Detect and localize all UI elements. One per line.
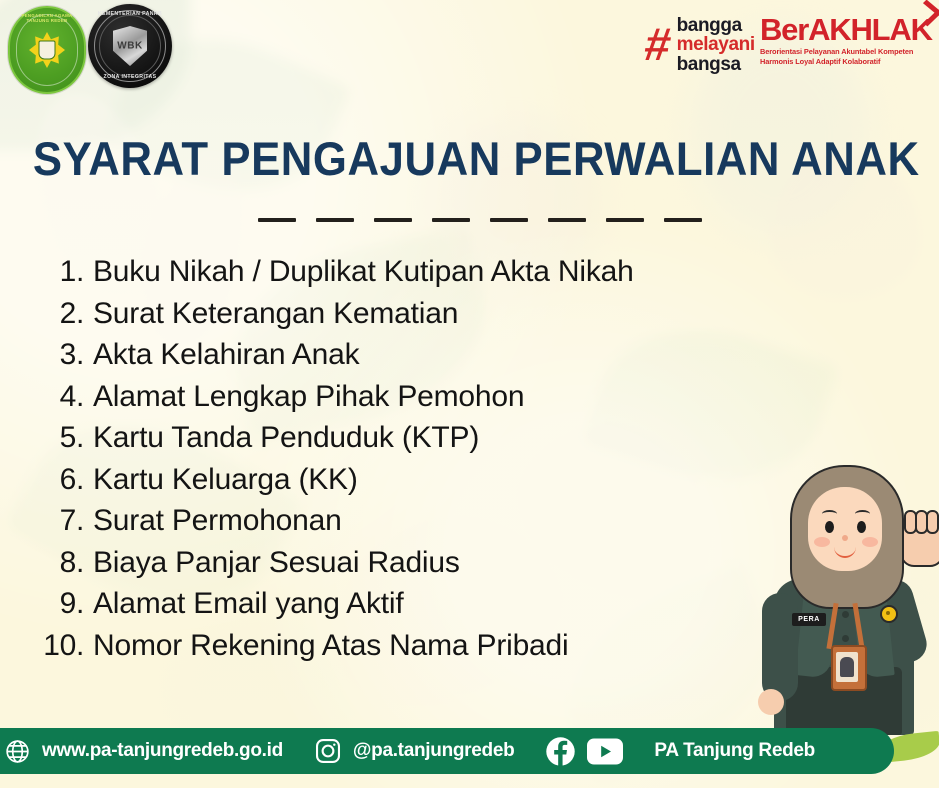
waving-hand-icon [900,517,939,567]
berakhlak-sub-line-1: Berorientasi Pelayanan Akuntabel Kompete… [760,47,932,57]
list-item-label: Surat Permohonan [93,504,342,538]
footer-contact-bar: www.pa-tanjungredeb.go.id @pa.tanjungred… [0,728,894,774]
list-item-label: Nomor Rekening Atas Nama Pribadi [93,629,569,663]
bangga-line-3: bangsa [677,55,755,74]
instagram-handle[interactable]: @pa.tanjungredeb [353,740,515,762]
list-item: 4.Alamat Lengkap Pihak Pemohon [36,380,776,422]
uniform-pin-icon [880,605,898,623]
wbk-arc-top-text: KEMENTERIAN PANRB [88,11,172,17]
requirements-list: 1.Buku Nikah / Duplikat Kutipan Akta Nik… [36,255,776,670]
list-item-number: 9. [36,587,93,621]
list-item-label: Alamat Lengkap Pihak Pemohon [93,380,524,414]
youtube-icon[interactable] [587,738,623,765]
list-item-number: 10. [36,629,93,663]
list-item: 3.Akta Kelahiran Anak [36,338,776,380]
female-officer-mascot: PERA [752,453,939,733]
list-item-label: Kartu Keluarga (KK) [93,463,358,497]
list-item: 6.Kartu Keluarga (KK) [36,463,776,505]
bangga-line-1: bangga [677,16,755,35]
list-item-label: Surat Keterangan Kematian [93,297,458,331]
list-item-label: Akta Kelahiran Anak [93,338,359,372]
dashed-divider [258,218,702,222]
list-item-number: 4. [36,380,93,414]
instagram-icon[interactable] [314,737,342,765]
berakhlak-logo: BerAKHLAK Berorientasi Pelayanan Akuntab… [760,14,932,67]
hashtag-icon: # [642,26,673,64]
website-url[interactable]: www.pa-tanjungredeb.go.id [42,740,283,762]
list-item-number: 7. [36,504,93,538]
list-item: 1.Buku Nikah / Duplikat Kutipan Akta Nik… [36,255,776,297]
wbk-arc-bottom-text: ZONA INTEGRITAS [88,74,172,80]
list-item-label: Biaya Panjar Sesuai Radius [93,546,460,580]
list-item: 2.Surat Keterangan Kematian [36,297,776,339]
list-item: 5.Kartu Tanda Penduduk (KTP) [36,421,776,463]
page-title: SYARAT PENGAJUAN PERWALIAN ANAK [33,131,906,186]
pengadilan-agama-logo: PENGADILAN AGAMA TANJUNG REDEB [8,6,82,90]
bangga-line-2: melayani [677,35,755,54]
list-item-number: 2. [36,297,93,331]
list-item: 9.Alamat Email yang Aktif [36,587,776,629]
wbk-zona-integritas-seal: KEMENTERIAN PANRB WBK ZONA INTEGRITAS [88,4,172,88]
list-item-label: Kartu Tanda Penduduk (KTP) [93,421,479,455]
list-item-number: 5. [36,421,93,455]
wbk-center-text: WBK [117,41,142,52]
list-item: 10.Nomor Rekening Atas Nama Pribadi [36,629,776,671]
facebook-icon[interactable] [545,736,576,767]
list-item-label: Buku Nikah / Duplikat Kutipan Akta Nikah [93,255,634,289]
list-item-number: 3. [36,338,93,372]
list-item-number: 8. [36,546,93,580]
bangga-melayani-bangsa-logo: # bangga melayani bangsa [645,16,755,74]
list-item: 8.Biaya Panjar Sesuai Radius [36,546,776,588]
list-item: 7.Surat Permohonan [36,504,776,546]
list-item-number: 6. [36,463,93,497]
social-account-name: PA Tanjung Redeb [654,740,815,762]
list-item-label: Alamat Email yang Aktif [93,587,404,621]
poster-canvas: PENGADILAN AGAMA TANJUNG REDEB KEMENTERI… [0,0,939,788]
berakhlak-sub-line-2: Harmonis Loyal Adaptif Kolaboratif [760,57,932,67]
mascot-name-tag: PERA [792,613,826,626]
court-seal-arc-text: PENGADILAN AGAMA TANJUNG REDEB [12,13,82,23]
berakhlak-wordmark: BerAKHLAK [760,14,932,45]
list-item-number: 1. [36,255,93,289]
globe-icon [4,738,31,765]
